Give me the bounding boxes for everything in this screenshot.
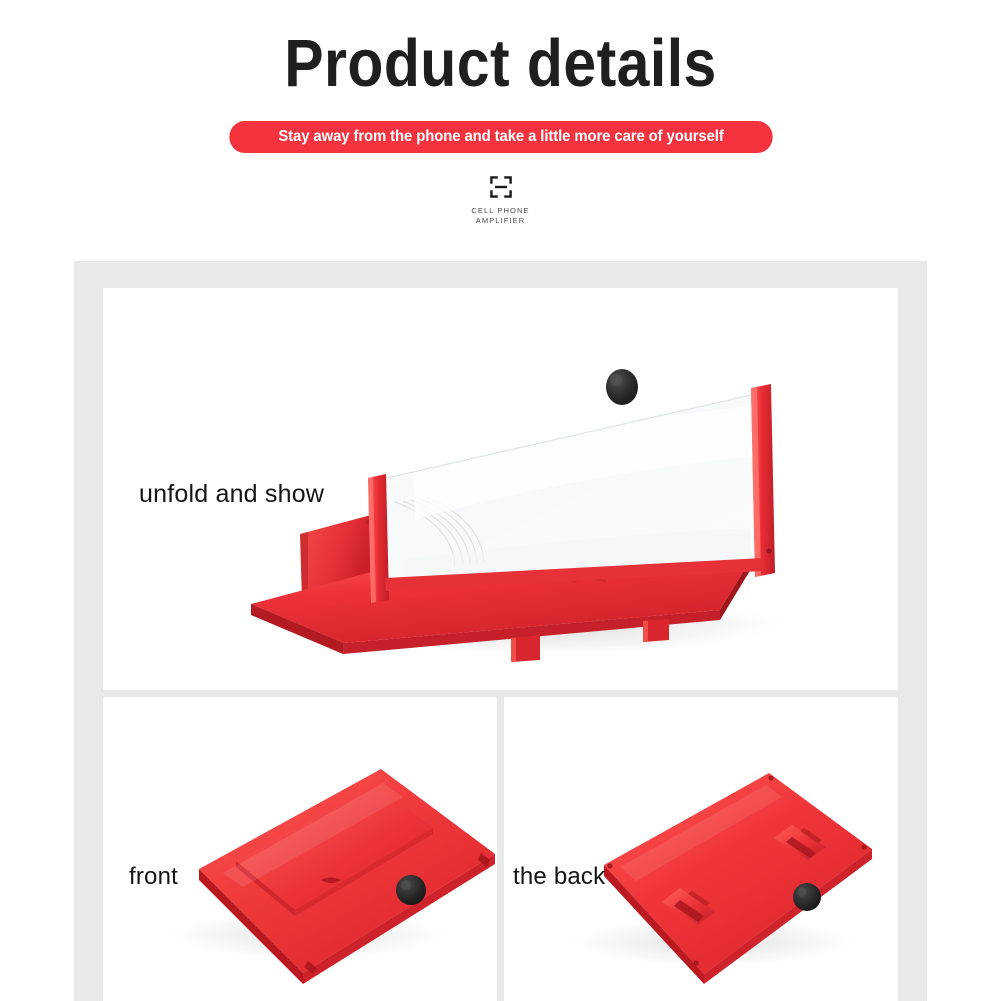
tagline-container: Stay away from the phone and take a litt…	[0, 121, 1001, 153]
page-header: Product details Stay away from the phone…	[0, 0, 1001, 226]
caption-the-back: the back	[513, 863, 605, 891]
page-title: Product details	[60, 26, 941, 102]
product-image-back	[504, 697, 898, 1001]
caption-unfold-and-show: unfold and show	[139, 480, 324, 509]
scan-frame-icon	[487, 173, 515, 201]
gallery-panel-front[interactable]: front	[103, 697, 497, 1001]
gallery-panel-unfold[interactable]: unfold and show	[103, 288, 898, 690]
gallery-bottom-row: front	[103, 697, 898, 1001]
caption-front: front	[129, 863, 178, 891]
gallery-panel-back[interactable]: the back	[504, 697, 898, 1001]
brand-text: CELL PHONE AMPLIFIER	[471, 206, 529, 226]
brand-logo: CELL PHONE AMPLIFIER	[0, 173, 1001, 226]
tagline-badge: Stay away from the phone and take a litt…	[229, 121, 772, 153]
brand-line-1: CELL PHONE	[471, 206, 529, 216]
product-image-front	[103, 697, 497, 1001]
brand-line-2: AMPLIFIER	[471, 216, 529, 226]
product-gallery: unfold and show	[74, 261, 927, 1001]
